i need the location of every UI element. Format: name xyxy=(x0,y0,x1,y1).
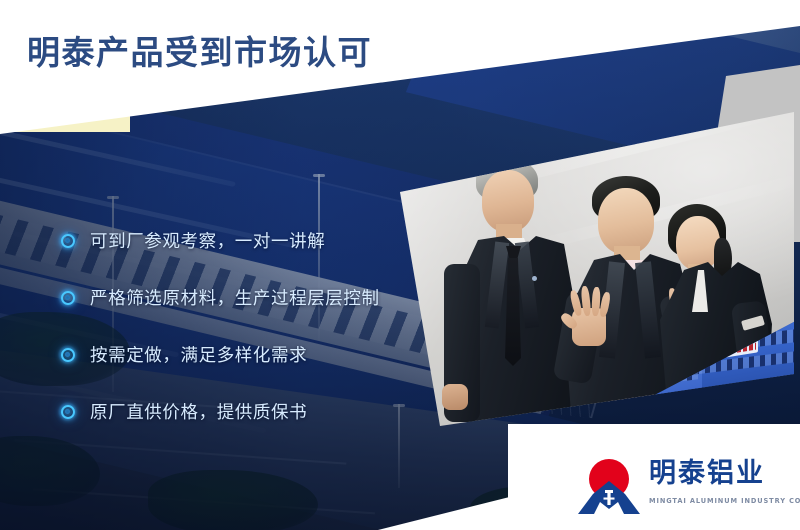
list-item-label: 可到厂参观考察，一对一讲解 xyxy=(90,228,325,253)
target-ring-icon xyxy=(58,345,77,364)
logo-name-en: MINGTAI ALUMINUM INDUSTRY CO., LTD xyxy=(649,497,800,505)
target-ring-icon xyxy=(58,288,77,307)
list-item: 可到厂参观考察，一对一讲解 xyxy=(58,212,418,269)
list-item: 按需定做，满足多样化需求 xyxy=(58,326,418,383)
logo-mountain-shape xyxy=(578,480,640,514)
logo-name-cn: 明泰铝业 xyxy=(649,458,765,489)
feature-list: 可到厂参观考察，一对一讲解 严格筛选原材料，生产过程层层控制 按需定做，满足多样… xyxy=(58,212,418,440)
list-item-label: 严格筛选原材料，生产过程层层控制 xyxy=(90,285,380,310)
target-ring-icon xyxy=(58,231,77,250)
target-ring-icon xyxy=(58,402,77,421)
logo-text-block: 明泰铝业 MINGTAI ALUMINUM INDUSTRY CO., LTD xyxy=(649,458,800,507)
list-item: 原厂直供价格，提供质保书 xyxy=(58,383,418,440)
list-item-label: 按需定做，满足多样化需求 xyxy=(90,342,307,367)
list-item-label: 原厂直供价格，提供质保书 xyxy=(90,399,307,424)
page-title: 明泰产品受到市场认可 xyxy=(27,26,372,74)
mingtai-sun-mountain-logo-icon xyxy=(578,458,640,514)
company-logo: 明泰铝业 MINGTAI ALUMINUM INDUSTRY CO., LTD xyxy=(578,458,800,514)
banner-canvas: 明泰产品受到市场认可 可到厂参观考察，一对一讲解 严格筛选原材料，生产过程层层控… xyxy=(0,0,800,530)
list-item: 严格筛选原材料，生产过程层层控制 xyxy=(58,269,418,326)
